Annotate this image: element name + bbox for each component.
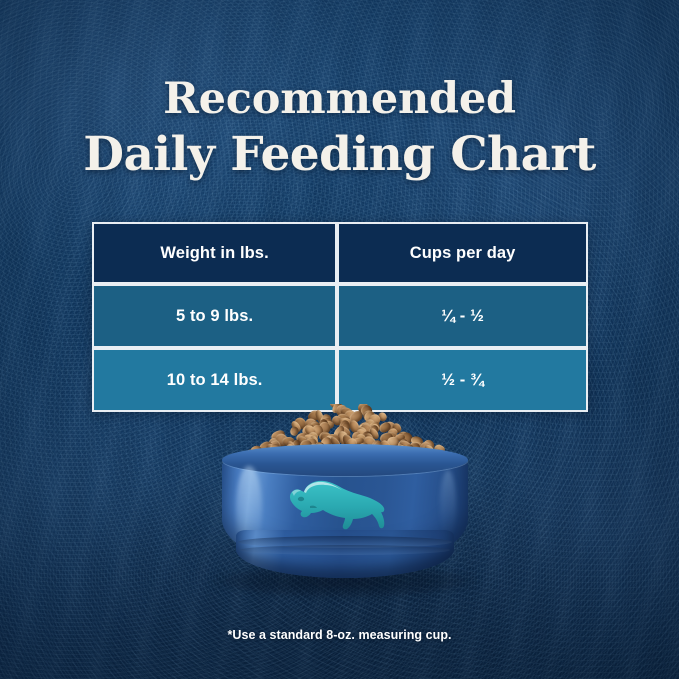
- feeding-chart-page: Recommended Daily Feeding Chart Weight i…: [0, 0, 679, 679]
- column-header-weight: Weight in lbs.: [92, 222, 337, 284]
- column-header-cups: Cups per day: [337, 222, 588, 284]
- cell-weight-range: 5 to 9 lbs.: [92, 284, 337, 348]
- page-title: Recommended Daily Feeding Chart: [0, 72, 679, 184]
- cell-weight-range: 10 to 14 lbs.: [92, 348, 337, 412]
- cell-cups-per-day: ¼ - ½: [337, 284, 588, 348]
- table-row: 5 to 9 lbs. ¼ - ½: [92, 284, 588, 348]
- dog-bowl-image: [200, 404, 490, 594]
- bison-logo-icon: [282, 476, 394, 532]
- page-title-line-1: Recommended: [0, 72, 679, 126]
- feeding-chart-table: Weight in lbs. Cups per day 5 to 9 lbs. …: [92, 222, 588, 412]
- cell-cups-per-day: ½ - ¾: [337, 348, 588, 412]
- table-row: 10 to 14 lbs. ½ - ¾: [92, 348, 588, 412]
- bowl-top-rim: [222, 444, 468, 476]
- table-header-row: Weight in lbs. Cups per day: [92, 222, 588, 284]
- footnote-text: *Use a standard 8-oz. measuring cup.: [0, 628, 679, 642]
- page-title-line-2: Daily Feeding Chart: [0, 126, 679, 184]
- bowl-base-groove-lower: [240, 545, 450, 555]
